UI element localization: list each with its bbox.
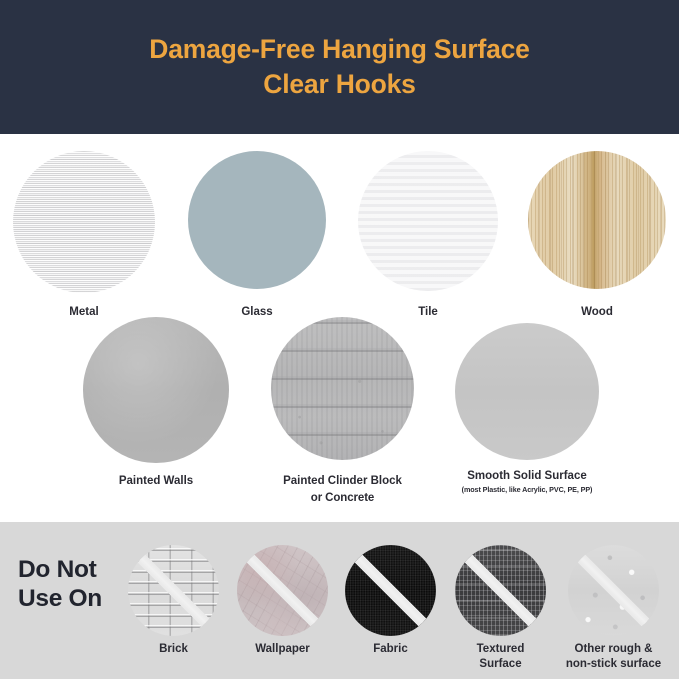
surface-label-smooth-solid: Smooth Solid Surface (most Plastic, like… [462, 469, 593, 494]
tile-swatch-icon [358, 151, 498, 291]
surface-item-painted-walls: Painted Walls [83, 317, 229, 463]
do-not-use-line-1: Do Not [18, 556, 96, 583]
cinder-block-label-line-1: Painted Clinder Block [283, 475, 402, 487]
prohibited-label-brick: Brick [159, 642, 188, 657]
prohibited-item-textured-surface: Textured Surface [455, 545, 546, 636]
prohibition-slash-icon [237, 545, 328, 636]
surface-item-wood: Wood [528, 151, 666, 289]
title-line-2: Clear Hooks [149, 67, 529, 102]
cinder-block-label-line-2: or Concrete [283, 491, 402, 506]
infographic-poster: Damage-Free Hanging Surface Clear Hooks … [0, 0, 679, 679]
metal-swatch-icon [13, 151, 155, 293]
surface-label-tile: Tile [418, 305, 438, 320]
rough-label-line-2: non-stick surface [566, 657, 661, 672]
smooth-solid-swatch-icon [455, 323, 599, 460]
do-not-use-heading: Do Not Use On [18, 556, 102, 614]
surface-item-tile: Tile [358, 151, 498, 291]
do-not-use-section: Do Not Use On Brick Wallpaper Fab [0, 522, 679, 679]
prohibited-item-brick: Brick [128, 545, 219, 636]
title-line-1: Damage-Free Hanging Surface [149, 34, 529, 64]
fabric-swatch-icon [345, 545, 436, 636]
prohibition-slash-icon [128, 545, 219, 636]
do-not-use-line-2: Use On [18, 585, 102, 614]
prohibited-label-fabric: Fabric [373, 642, 408, 657]
surface-item-cinder-block: Painted Clinder Block or Concrete [271, 317, 414, 460]
prohibited-item-wallpaper: Wallpaper [237, 545, 328, 636]
surface-item-metal: Metal [13, 151, 155, 293]
surface-label-wood: Wood [581, 305, 613, 320]
smooth-solid-sublabel: (most Plastic, like Acrylic, PVC, PE, PP… [462, 485, 593, 494]
concrete-swatch-icon [271, 317, 414, 460]
textured-surface-swatch-icon [455, 545, 546, 636]
surface-label-cinder-block: Painted Clinder Block or Concrete [283, 474, 402, 505]
rough-surface-swatch-icon [568, 545, 659, 636]
approved-surfaces-section: Metal Glass Tile Wood Painted Walls Pain… [0, 134, 679, 522]
textured-label-line-2: Surface [477, 657, 525, 672]
painted-walls-swatch-icon [83, 317, 229, 463]
brick-swatch-icon [128, 545, 219, 636]
header-banner: Damage-Free Hanging Surface Clear Hooks [0, 0, 679, 134]
surface-label-painted-walls: Painted Walls [119, 474, 193, 489]
prohibited-label-textured-surface: Textured Surface [477, 642, 525, 672]
brick-label-line-1: Brick [159, 643, 188, 655]
prohibition-slash-icon [455, 545, 546, 636]
prohibition-slash-icon [345, 545, 436, 636]
prohibition-slash-icon [568, 545, 659, 636]
glass-swatch-icon [188, 151, 326, 289]
prohibited-item-rough-nonstick: Other rough & non-stick surface [568, 545, 659, 636]
prohibited-item-fabric: Fabric [345, 545, 436, 636]
prohibited-label-wallpaper: Wallpaper [255, 642, 310, 657]
page-title: Damage-Free Hanging Surface Clear Hooks [129, 32, 549, 102]
wallpaper-swatch-icon [237, 545, 328, 636]
fabric-label-line-1: Fabric [373, 643, 408, 655]
rough-label-line-1: Other rough & [575, 643, 653, 655]
textured-label-line-1: Textured [477, 643, 525, 655]
surface-item-smooth-solid: Smooth Solid Surface (most Plastic, like… [455, 323, 599, 460]
prohibited-label-rough-nonstick: Other rough & non-stick surface [566, 642, 661, 672]
surface-label-glass: Glass [241, 305, 272, 320]
wallpaper-label-line-1: Wallpaper [255, 643, 310, 655]
smooth-solid-label: Smooth Solid Surface [467, 470, 587, 482]
wood-swatch-icon [528, 151, 666, 289]
surface-item-glass: Glass [188, 151, 326, 289]
